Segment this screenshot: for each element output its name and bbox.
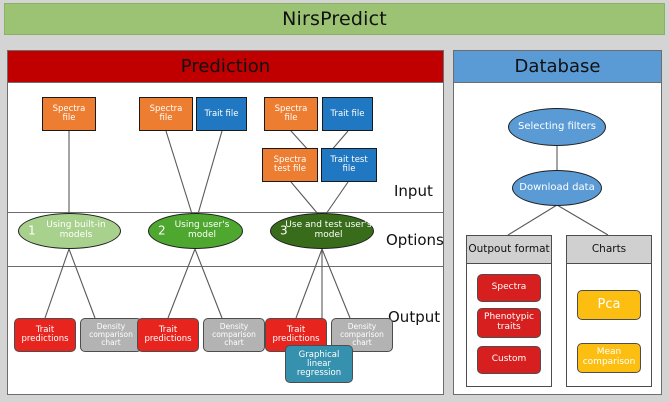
database-panel-header: Database [454, 51, 661, 83]
node-label: Trait predictions [17, 326, 73, 344]
db-step-download-data[interactable]: Download data [512, 170, 602, 206]
diagram-canvas: NirsPredict Prediction Input Options Out… [0, 0, 669, 402]
node-label: Spectra test file [265, 156, 315, 174]
node-label: Selecting filters [518, 122, 596, 133]
app-title: NirsPredict [282, 8, 387, 30]
input-spectra-file-1[interactable]: Spectra file [42, 97, 96, 131]
node-label: Phenotypic traits [480, 313, 538, 332]
db-item-phenotypic-traits[interactable]: Phenotypic traits [477, 308, 541, 338]
option-number: 2 [158, 225, 166, 238]
node-label: Mean comparison [580, 348, 638, 367]
options-output-divider [8, 266, 443, 267]
option-3-use-and-test-users-model[interactable]: 3 Use and test user's model [270, 213, 374, 249]
node-label: Download data [519, 183, 594, 194]
node-label: Trait predictions [140, 326, 196, 344]
input-trait-file-3[interactable]: Trait file [322, 97, 373, 131]
band-label-options: Options [386, 231, 444, 249]
input-spectra-file-2[interactable]: Spectra file [139, 97, 193, 131]
option-number: 3 [280, 225, 288, 238]
node-label: Trait file [331, 110, 365, 119]
input-trait-file-2[interactable]: Trait file [196, 97, 247, 131]
band-label-output: Output [388, 308, 440, 326]
db-item-spectra[interactable]: Spectra [477, 274, 541, 302]
output-trait-predictions-2[interactable]: Trait predictions [137, 318, 199, 352]
db-item-custom[interactable]: Custom [477, 346, 541, 374]
output-trait-predictions-1[interactable]: Trait predictions [14, 318, 76, 352]
option-2-using-users-model[interactable]: 2 Using user's model [148, 213, 243, 249]
node-label: Spectra file [142, 105, 190, 123]
option-number: 1 [28, 225, 36, 238]
node-label: Trait file [205, 110, 239, 119]
node-label: Spectra file [267, 105, 315, 123]
node-label: Trait predictions [268, 326, 324, 344]
node-label: Spectra [492, 283, 527, 293]
node-label: Density comparison chart [334, 323, 390, 347]
db-group-output-format-header: Outpout format [467, 236, 551, 264]
node-label: Graphical linear regression [288, 351, 350, 378]
output-density-comparison-chart-2[interactable]: Density comparison chart [203, 318, 265, 352]
db-group-charts-header: Charts [567, 236, 651, 264]
node-label: Density comparison chart [206, 323, 262, 347]
db-group-title: Outpout format [468, 244, 549, 255]
node-label: Custom [492, 355, 526, 365]
prediction-panel-header: Prediction [8, 51, 443, 83]
node-label: Trait test file [324, 156, 374, 174]
band-label-input: Input [394, 182, 433, 200]
option-1-using-built-in-models[interactable]: 1 Using built-in models [18, 213, 121, 249]
db-item-mean-comparison[interactable]: Mean comparison [577, 343, 641, 373]
input-trait-test-file-3[interactable]: Trait test file [321, 148, 377, 182]
db-item-pca[interactable]: Pca [577, 290, 641, 320]
db-group-title: Charts [592, 244, 626, 255]
node-label: Density comparison chart [83, 323, 139, 347]
input-spectra-test-file-3[interactable]: Spectra test file [262, 148, 318, 182]
app-title-banner: NirsPredict [4, 3, 665, 35]
db-step-selecting-filters[interactable]: Selecting filters [508, 108, 606, 146]
prediction-panel-title: Prediction [181, 56, 270, 77]
database-panel-title: Database [515, 56, 601, 77]
output-density-comparison-chart-1[interactable]: Density comparison chart [80, 318, 142, 352]
node-label: Spectra file [45, 105, 93, 123]
output-graphical-linear-regression-3[interactable]: Graphical linear regression [285, 345, 353, 383]
input-spectra-file-3[interactable]: Spectra file [264, 97, 318, 131]
node-label: Pca [598, 298, 621, 312]
